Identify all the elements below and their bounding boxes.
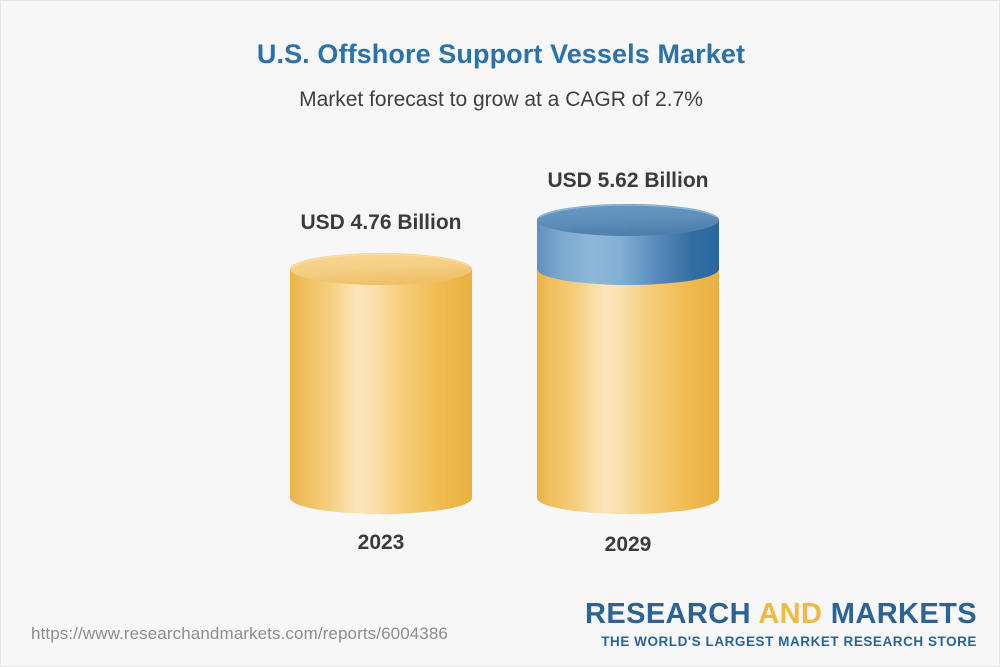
plot-area: USD 4.76 Billion: [1, 1, 1000, 601]
cylinder-2029-svg: [537, 204, 719, 514]
cylinder-2023-top: [290, 253, 472, 285]
bar-value-label-2029: USD 5.62 Billion: [537, 169, 719, 193]
logo-text-markets: MARKETS: [822, 598, 977, 630]
logo-text-and: AND: [758, 598, 822, 630]
cylinder-2023[interactable]: [290, 253, 472, 514]
source-url[interactable]: https://www.researchandmarkets.com/repor…: [31, 624, 448, 644]
cylinder-2029[interactable]: [537, 204, 719, 514]
logo-wordmark: RESEARCH AND MARKETS: [585, 600, 977, 629]
category-label-2029: 2029: [537, 533, 719, 557]
chart-canvas: U.S. Offshore Support Vessels Market Mar…: [0, 0, 1000, 667]
category-label-2023: 2023: [290, 531, 472, 555]
researchandmarkets-logo[interactable]: RESEARCH AND MARKETS THE WORLD'S LARGEST…: [585, 600, 977, 649]
logo-text-research: RESEARCH: [585, 598, 758, 630]
cylinder-2029-base-body: [537, 269, 719, 514]
bar-value-label-2023: USD 4.76 Billion: [290, 211, 472, 235]
cylinder-2023-body: [290, 269, 472, 514]
cylinder-2029-top: [537, 204, 719, 236]
cylinder-2023-svg: [290, 253, 472, 514]
logo-tagline: THE WORLD'S LARGEST MARKET RESEARCH STOR…: [585, 635, 977, 649]
